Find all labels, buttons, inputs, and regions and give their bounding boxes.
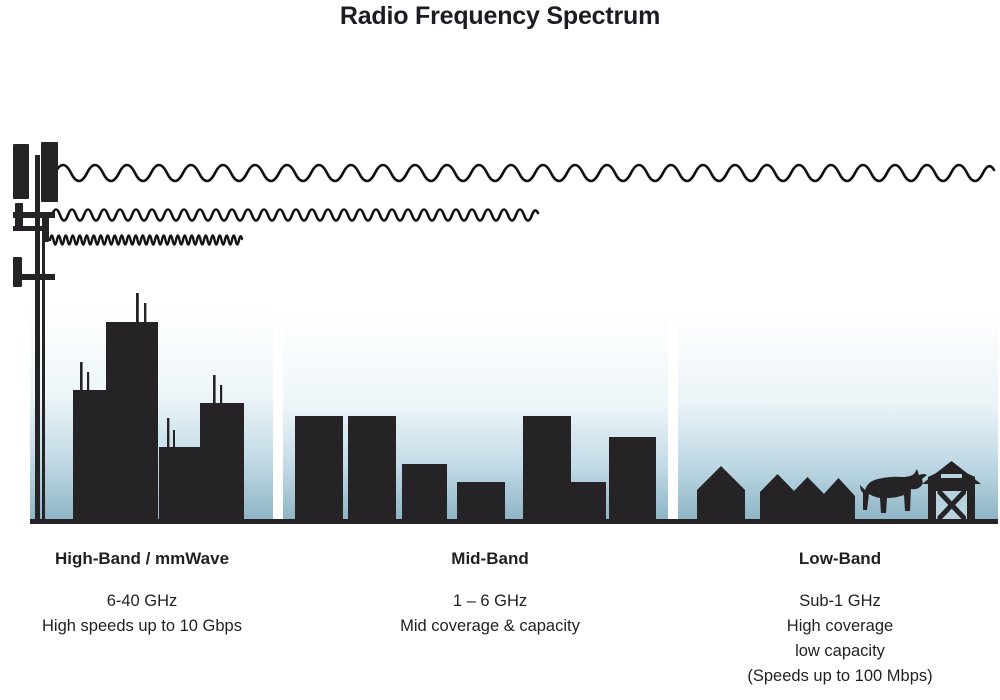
skyscraper-icon	[73, 390, 106, 519]
building-icon	[348, 416, 396, 519]
band-frequency-high: 6-40 GHz	[0, 589, 284, 614]
skyscraper-spire	[220, 385, 222, 406]
radio-wave-icon-long	[55, 165, 994, 181]
band-detail-mid: Mid coverage & capacity	[300, 614, 680, 639]
skyscraper-icon	[106, 322, 158, 519]
radio-wave-icon-medium	[52, 210, 538, 221]
building-icon	[523, 416, 571, 519]
building-icon	[295, 416, 343, 519]
skyscraper-icon	[200, 403, 244, 519]
building-icon	[402, 464, 447, 519]
skyscraper-spire	[136, 293, 139, 325]
band-frequency-mid: 1 – 6 GHz	[300, 589, 680, 614]
skyscraper-spire	[144, 303, 146, 325]
band-label-high-band: High-Band / mmWave	[0, 549, 284, 569]
band-label-mid-band: Mid-Band	[300, 549, 680, 569]
band-detail-low-3: (Speeds up to 100 Mbps)	[680, 664, 1000, 689]
skyscraper-spire	[167, 418, 169, 450]
skyscraper-icon	[159, 447, 203, 519]
band-label-low-band: Low-Band	[680, 549, 1000, 569]
building-icon	[609, 437, 656, 519]
band-description-mid-band: 1 – 6 GHz Mid coverage & capacity	[300, 589, 680, 639]
infographic-canvas: Radio Frequency Spectrum	[0, 0, 1000, 700]
building-icon	[568, 482, 606, 519]
barn-loft-window	[941, 474, 962, 478]
band-frequency-low: Sub-1 GHz	[680, 589, 1000, 614]
band-detail-low-2: low capacity	[680, 639, 1000, 664]
band-detail-low-1: High coverage	[680, 614, 1000, 639]
band-description-high-band: 6-40 GHz High speeds up to 10 Gbps	[0, 589, 284, 639]
ground-line	[30, 519, 998, 524]
band-detail-high: High speeds up to 10 Gbps	[0, 614, 284, 639]
radio-wave-icon-short	[50, 236, 242, 245]
skyscraper-spire	[80, 362, 83, 394]
band-description-low-band: Sub-1 GHz High coverage low capacity (Sp…	[680, 589, 1000, 689]
building-icon	[457, 482, 505, 519]
radio-wave-group	[50, 165, 994, 245]
skyscraper-spire	[213, 375, 216, 406]
